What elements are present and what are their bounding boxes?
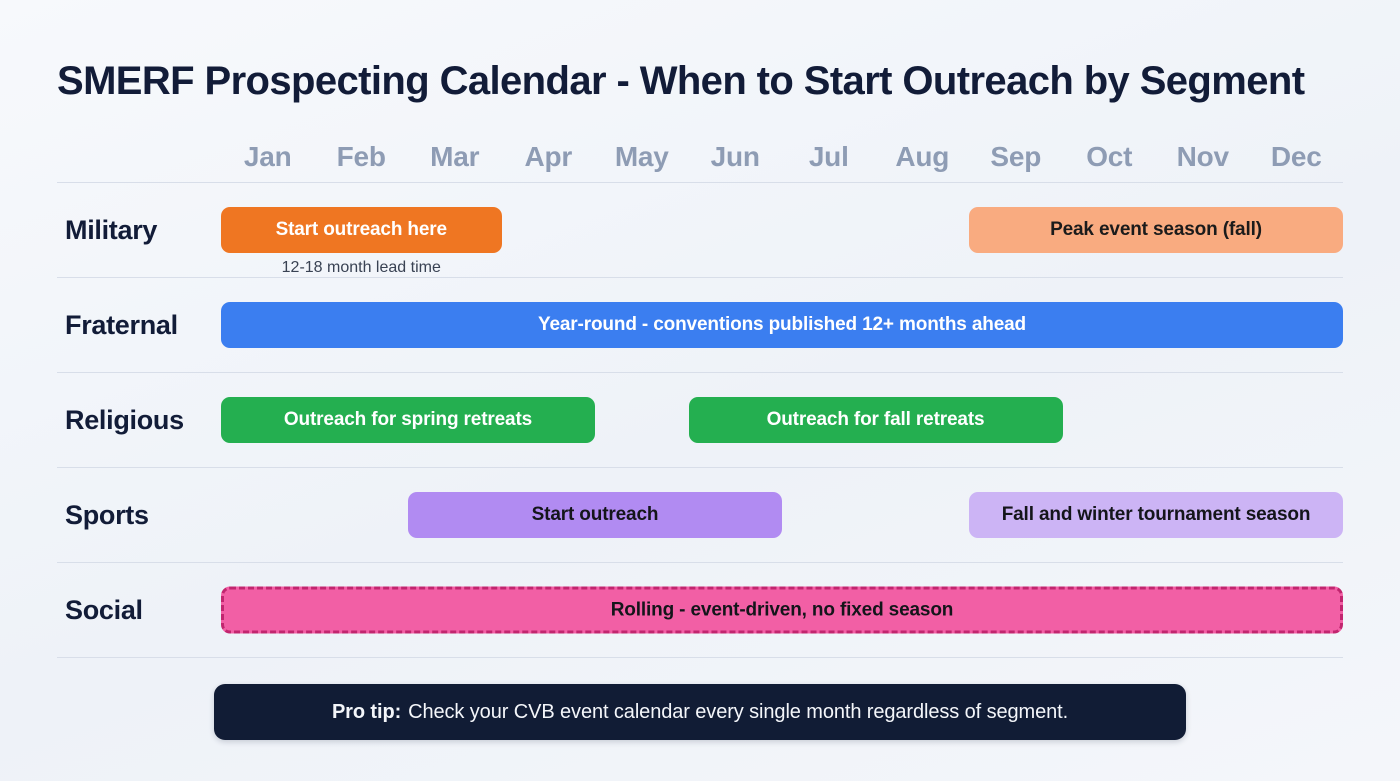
timeline-bar[interactable]: Rolling - event-driven, no fixed season <box>221 587 1343 634</box>
segment-row: SportsStart outreachFall and winter tour… <box>57 468 1343 562</box>
month-label-dec: Dec <box>1250 132 1344 182</box>
month-header-row: JanFebMarAprMayJunJulAugSepOctNovDec <box>57 132 1343 182</box>
timeline-bar[interactable]: Year-round - conventions published 12+ m… <box>221 302 1343 348</box>
segment-rows: MilitaryStart outreach here12-18 month l… <box>57 183 1343 658</box>
divider <box>57 657 1343 658</box>
page-title: SMERF Prospecting Calendar - When to Sta… <box>57 58 1347 104</box>
segment-label-religious: Religious <box>57 373 221 467</box>
month-label-apr: Apr <box>502 132 596 182</box>
month-header-spacer <box>57 132 221 182</box>
month-label-aug: Aug <box>876 132 970 182</box>
segment-track: Rolling - event-driven, no fixed season <box>221 563 1343 657</box>
month-label-sep: Sep <box>969 132 1063 182</box>
segment-track: Year-round - conventions published 12+ m… <box>221 278 1343 372</box>
month-label-nov: Nov <box>1156 132 1250 182</box>
segment-track: Start outreach here12-18 month lead time… <box>221 183 1343 277</box>
calendar-infographic: SMERF Prospecting Calendar - When to Sta… <box>0 0 1400 781</box>
month-label-jul: Jul <box>782 132 876 182</box>
month-label-feb: Feb <box>315 132 409 182</box>
timeline-grid: JanFebMarAprMayJunJulAugSepOctNovDec Mil… <box>57 132 1343 658</box>
segment-track: Outreach for spring retreatsOutreach for… <box>221 373 1343 467</box>
timeline-bar[interactable]: Start outreach <box>408 492 782 538</box>
timeline-bar[interactable]: Outreach for spring retreats <box>221 397 595 443</box>
month-label-mar: Mar <box>408 132 502 182</box>
segment-row: MilitaryStart outreach here12-18 month l… <box>57 183 1343 277</box>
timeline-bar[interactable]: Start outreach here <box>221 207 502 253</box>
segment-row: SocialRolling - event-driven, no fixed s… <box>57 563 1343 657</box>
segment-label-fraternal: Fraternal <box>57 278 221 372</box>
segment-label-social: Social <box>57 563 221 657</box>
month-labels: JanFebMarAprMayJunJulAugSepOctNovDec <box>221 132 1343 182</box>
month-label-jan: Jan <box>221 132 315 182</box>
segment-row: ReligiousOutreach for spring retreatsOut… <box>57 373 1343 467</box>
segment-track: Start outreachFall and winter tournament… <box>221 468 1343 562</box>
month-label-jun: Jun <box>689 132 783 182</box>
segment-row: FraternalYear-round - conventions publis… <box>57 278 1343 372</box>
timeline-bar[interactable]: Outreach for fall retreats <box>689 397 1063 443</box>
pro-tip-banner: Pro tip: Check your CVB event calendar e… <box>214 684 1186 740</box>
timeline-bar[interactable]: Fall and winter tournament season <box>969 492 1343 538</box>
segment-label-military: Military <box>57 183 221 277</box>
month-label-may: May <box>595 132 689 182</box>
timeline-bar-note: 12-18 month lead time <box>221 259 502 277</box>
month-label-oct: Oct <box>1063 132 1157 182</box>
pro-tip-text: Check your CVB event calendar every sing… <box>408 701 1068 724</box>
timeline-bar[interactable]: Peak event season (fall) <box>969 207 1343 253</box>
pro-tip-label: Pro tip: <box>332 701 401 724</box>
segment-label-sports: Sports <box>57 468 221 562</box>
